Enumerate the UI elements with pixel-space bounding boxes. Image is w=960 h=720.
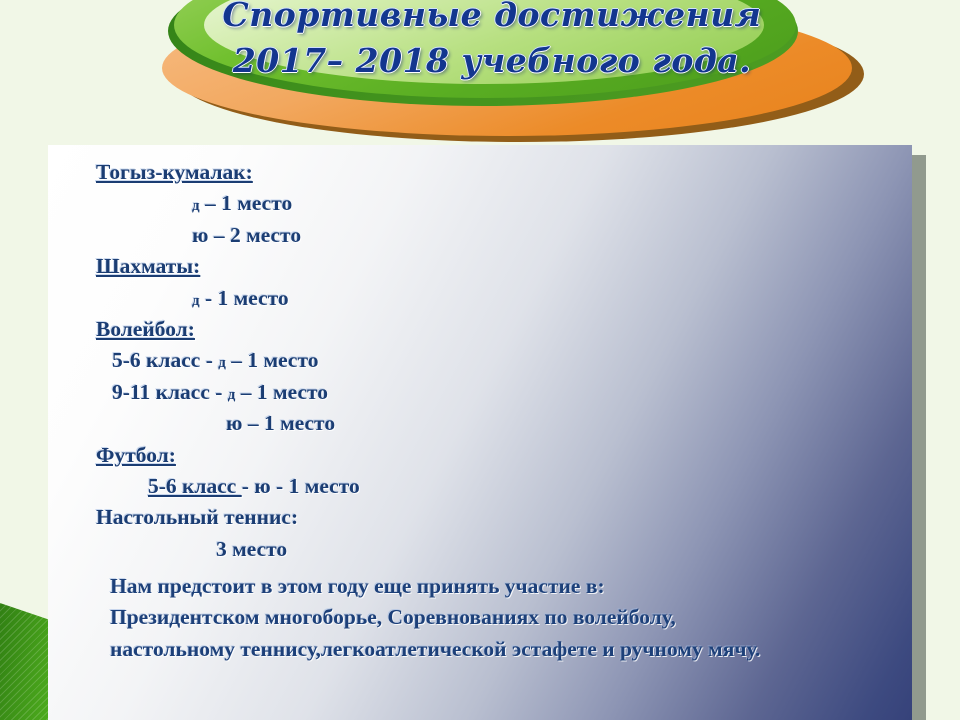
table-tennis-heading: Настольный теннис: (96, 505, 298, 529)
title-banner: Спортивные достижения 2017– 2018 учебног… (122, 0, 862, 144)
closing-line-2: Президентском многоборье, Соревнованиях … (96, 602, 912, 633)
togyz-kumalak-girls-result: – 1 место (200, 191, 293, 215)
volleyball-9-11-boys-result: – 1 место (242, 411, 335, 435)
volleyball-5-6-result: – 1 место (226, 348, 319, 372)
football-5-6-result: - ю - 1 место (242, 474, 360, 498)
list-item: 3 место (96, 534, 912, 565)
list-item: Волейбол: (96, 314, 912, 345)
closing-line-3: настольному теннису,легкоатлетической эс… (96, 634, 912, 665)
list-item: ю – 2 место (96, 220, 912, 251)
chess-girls-label: д (192, 293, 200, 309)
togyz-kumalak-boys-result: – 2 место (208, 223, 301, 247)
list-item: 5-6 класс - ю - 1 место (96, 471, 912, 502)
presentation-slide: Спортивные достижения 2017– 2018 учебног… (0, 0, 960, 720)
list-item: ю – 1 место (96, 408, 912, 439)
volleyball-5-6-lead: 5-6 класс - (112, 348, 218, 372)
closing-line-1: Нам предстоит в этом году еще принять уч… (96, 571, 912, 602)
volleyball-5-6-girls-label: д (218, 355, 226, 371)
togyz-kumalak-boys-label: ю (192, 223, 208, 247)
list-item: Настольный теннис: (96, 502, 912, 533)
volleyball-heading: Волейбол: (96, 317, 195, 341)
togyz-kumalak-girls-label: д (192, 198, 200, 214)
list-item: д - 1 место (96, 283, 912, 314)
chess-girls-result: - 1 место (200, 286, 289, 310)
volleyball-9-11-boys-label: ю (226, 411, 242, 435)
table-tennis-place: 3 место (216, 537, 287, 561)
list-item: 5-6 класс - д – 1 место (96, 345, 912, 376)
list-item: 9-11 класс - д – 1 место (96, 377, 912, 408)
list-item: Тогыз-кумалак: (96, 157, 912, 188)
content-panel: Тогыз-кумалак: д – 1 место ю – 2 место Ш… (48, 145, 912, 720)
chess-heading: Шахматы: (96, 254, 200, 278)
volleyball-9-11-lead: 9-11 класс - (112, 380, 228, 404)
slide-title: Спортивные достижения 2017– 2018 учебног… (122, 0, 862, 83)
football-heading: Футбол: (96, 443, 176, 467)
list-item: Шахматы: (96, 251, 912, 282)
list-item: Футбол: (96, 440, 912, 471)
togyz-kumalak-heading: Тогыз-кумалак: (96, 160, 253, 184)
volleyball-9-11-result: – 1 место (235, 380, 328, 404)
achievements-list: Тогыз-кумалак: д – 1 место ю – 2 место Ш… (48, 155, 912, 665)
football-5-6-lead: 5-6 класс (122, 474, 242, 498)
list-item: д – 1 место (96, 188, 912, 219)
